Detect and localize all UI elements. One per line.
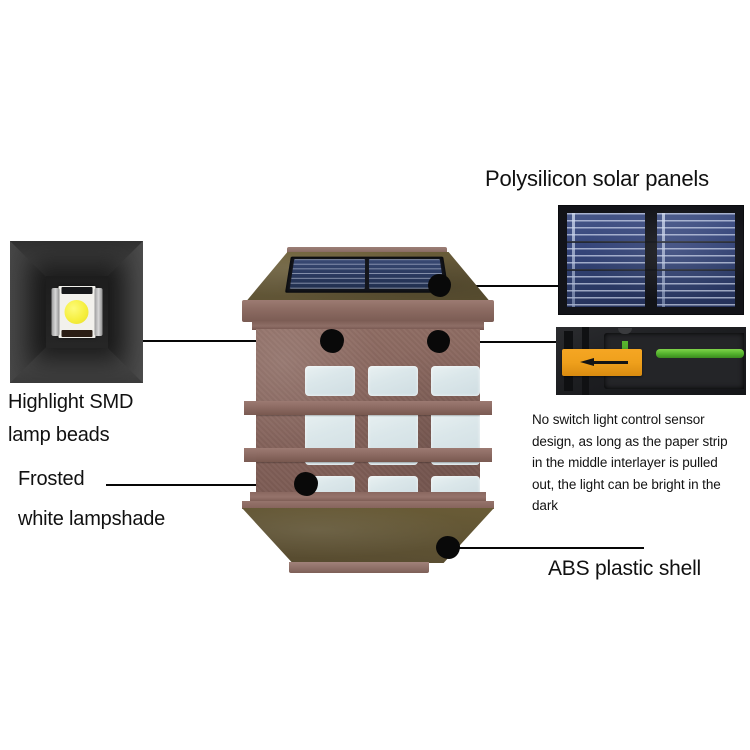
lamp-glass-area [305,366,480,488]
lamp-roof-solar-window [285,257,449,293]
frosted-white-lampshade-label-line2: white lampshade [18,508,165,531]
highlight-smd-lamp-bead-photo [10,241,143,383]
glass-mullion [355,366,368,488]
smd-bead-marker [320,329,344,353]
crossbar-side-tab [244,401,256,415]
polysilicon-solar-panel-photo [558,205,744,315]
solar-glass-sheen [558,205,744,315]
smd-led-package [58,286,95,338]
battery-pcb-strip [656,349,744,358]
crossbar-side-tab [244,448,256,462]
glass-pane [305,366,355,396]
smd-electrode-left [51,288,59,336]
infographic-canvas: Polysilicon solar panels Highlight SMD l… [0,0,750,750]
glass-pane [431,366,480,396]
solar-panel-marker [428,274,451,297]
frosted-white-lampshade-label-line1: Frosted [18,468,84,491]
lamp-foot-plate [289,562,429,573]
solar-wall-lamp-product-photo [232,247,504,580]
highlight-smd-lamp-beads-label-line2: lamp beads [8,424,109,447]
crossbar-side-tab [480,401,492,415]
insulation-pull-tab [562,349,642,376]
pull-tab-light-sensor-photo [556,327,746,395]
roof-solar-cell-left [290,259,365,288]
highlight-smd-lamp-beads-label-line1: Highlight SMD [8,391,133,414]
lamp-lower-rim-lip [242,501,494,509]
abs-shell-marker [436,536,460,559]
smd-package-bottom-cap [61,330,92,337]
left-arrow-icon [580,358,628,366]
smd-phosphor-dome [65,300,89,324]
lamp-crossbar [256,448,480,462]
lampshade-marker [294,472,318,496]
glass-pane [368,366,418,396]
lamp-body [256,329,480,494]
sensor-marker [427,330,450,353]
glass-mullion [418,366,431,488]
smd-package-top-cap [61,287,92,294]
lamp-upper-rim [242,300,494,322]
sensor-description-paragraph: No switch light control sensor design, a… [532,409,740,517]
smd-electrode-right [94,288,102,336]
crossbar-side-tab [480,448,492,462]
lamp-crossbar [256,401,480,415]
abs-plastic-shell-label: ABS plastic shell [548,557,701,581]
polysilicon-solar-panels-label: Polysilicon solar panels [485,166,709,192]
